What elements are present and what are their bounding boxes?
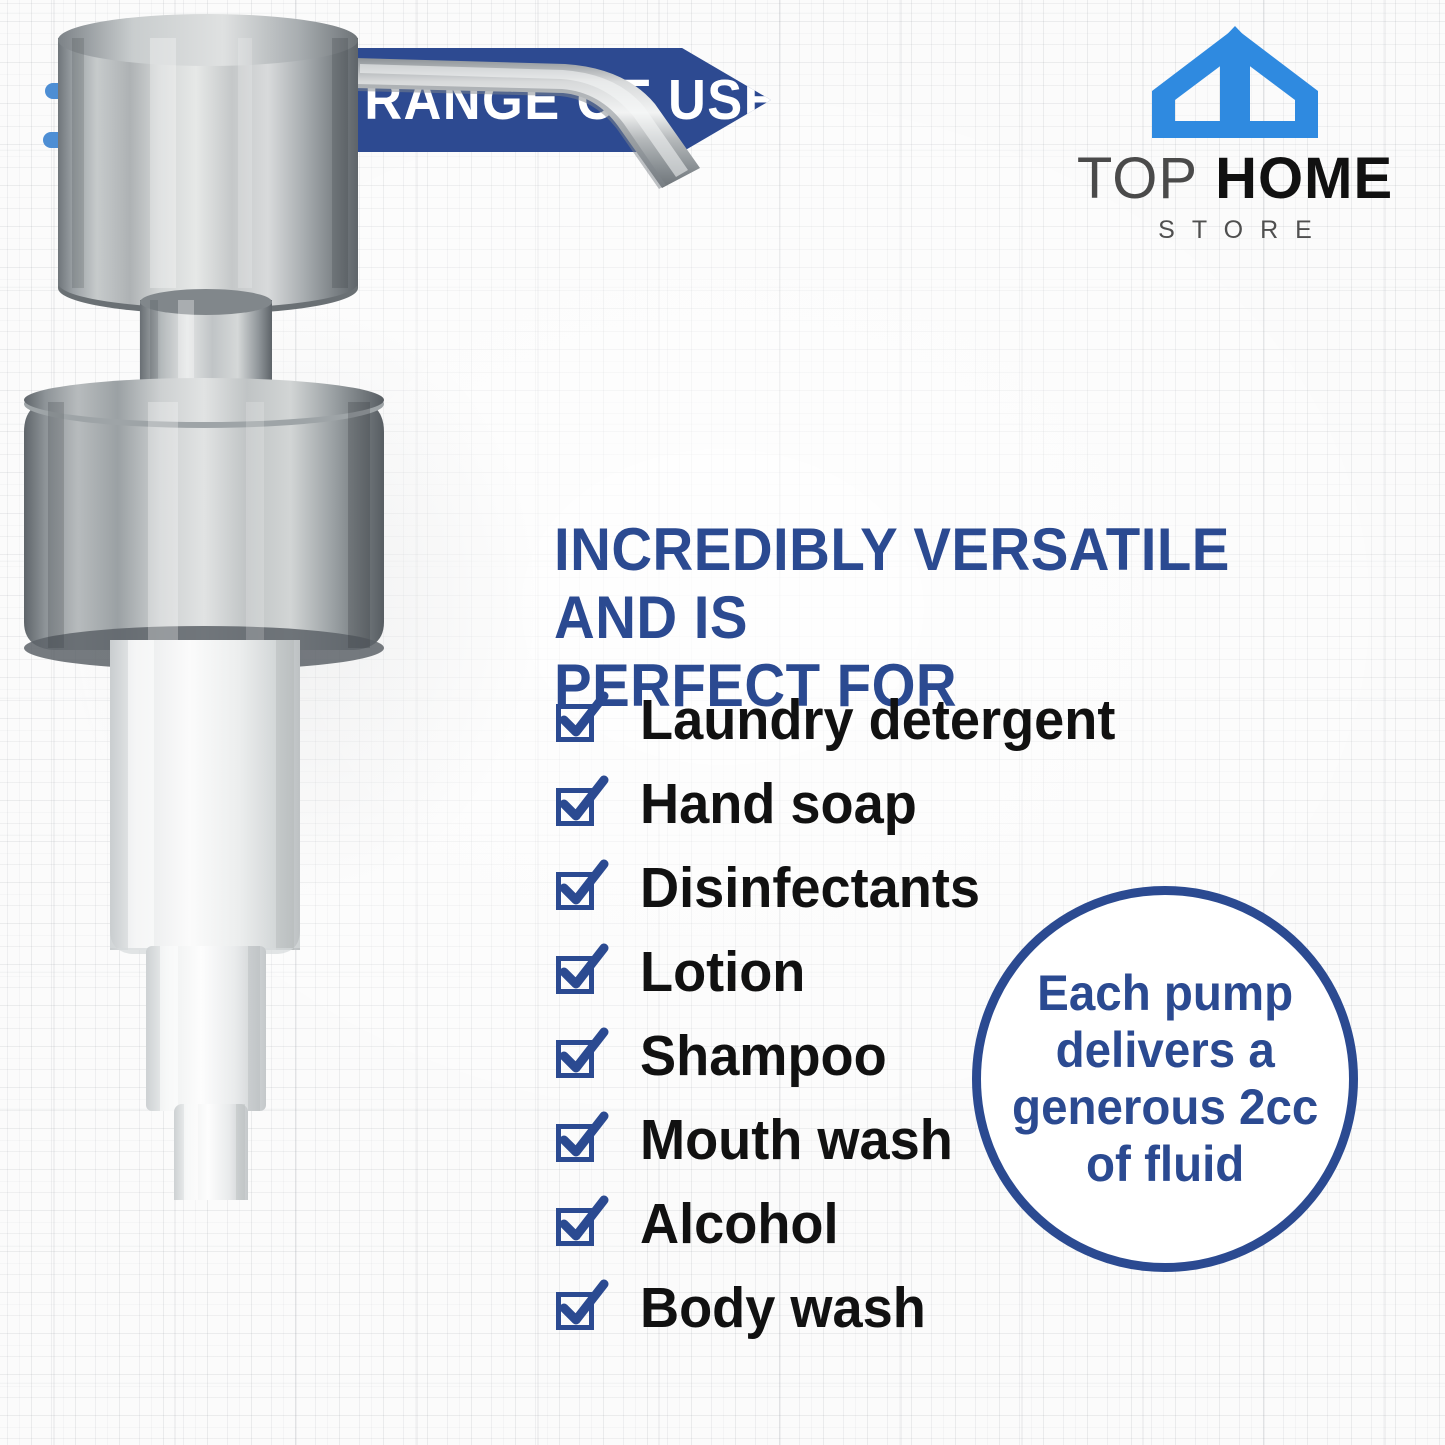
checked-checkbox-icon <box>556 1202 600 1246</box>
list-item-label: Mouth wash <box>640 1112 953 1169</box>
checked-checkbox-icon <box>556 698 600 742</box>
badge-line-2: delivers a <box>1012 1022 1318 1079</box>
brand-name: TOP HOME <box>1055 150 1415 208</box>
brand-subtitle: STORE <box>1055 218 1415 243</box>
list-item: Body wash <box>556 1266 1196 1350</box>
badge-line-1: Each pump <box>1012 965 1318 1022</box>
badge-text: Each pump delivers a generous 2cc of flu… <box>991 965 1339 1193</box>
list-item: Hand soap <box>556 762 1196 846</box>
list-item-label: Lotion <box>640 944 805 1001</box>
checked-checkbox-icon <box>556 866 600 910</box>
list-item-label: Shampoo <box>640 1028 887 1085</box>
brand-logo: TOP HOME STORE <box>1055 22 1415 243</box>
brand-name-top: TOP <box>1077 146 1198 211</box>
headline-line-1: INCREDIBLY VERSATILE AND IS <box>554 516 1334 652</box>
checked-checkbox-icon <box>556 1286 600 1330</box>
pump-volume-badge: Each pump delivers a generous 2cc of flu… <box>972 886 1358 1272</box>
list-item-label: Laundry detergent <box>640 692 1115 749</box>
list-item-label: Hand soap <box>640 776 917 833</box>
checked-checkbox-icon <box>556 1118 600 1162</box>
list-item-label: Disinfectants <box>640 860 980 917</box>
badge-line-3: generous 2cc <box>1012 1079 1318 1136</box>
list-item-label: Alcohol <box>640 1196 839 1253</box>
checked-checkbox-icon <box>556 1034 600 1078</box>
checked-checkbox-icon <box>556 782 600 826</box>
checked-checkbox-icon <box>556 950 600 994</box>
brand-name-home: HOME <box>1215 146 1393 211</box>
infographic-canvas: WIDE RANGE OF USE TOP HOME STORE <box>0 0 1445 1445</box>
home-arrow-logo-icon <box>1146 22 1324 144</box>
list-item: Laundry detergent <box>556 678 1196 762</box>
list-item-label: Body wash <box>640 1280 926 1337</box>
badge-line-4: of fluid <box>1012 1136 1318 1193</box>
